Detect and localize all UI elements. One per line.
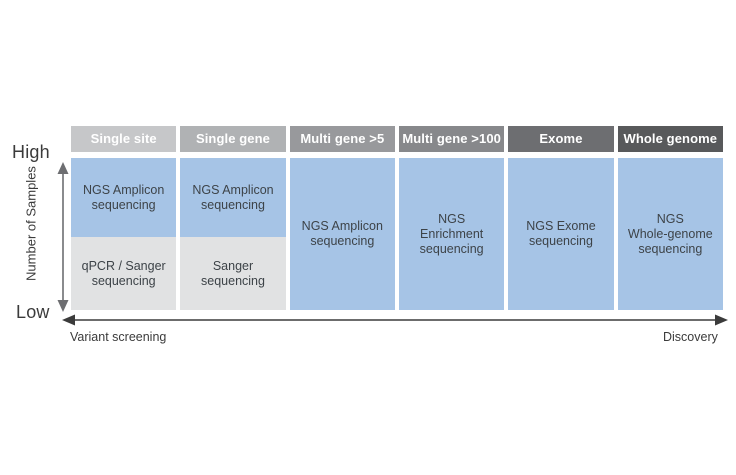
x-axis-right-label: Discovery: [663, 330, 718, 344]
y-axis-double-arrow-icon: [56, 162, 70, 312]
column-body-exome: NGS Exome sequencing: [508, 158, 613, 310]
cell-multi-gene-5: NGS Amplicon sequencing: [290, 158, 395, 310]
y-axis-low-label: Low: [16, 302, 50, 323]
cell-whole-genome: NGS Whole-genome sequencing: [618, 158, 723, 310]
column-body-multi-gene-5: NGS Amplicon sequencing: [290, 158, 395, 310]
column-body-single-site: NGS Amplicon sequencing qPCR / Sanger se…: [71, 158, 176, 310]
column-body-whole-genome: NGS Whole-genome sequencing: [618, 158, 723, 310]
cell-single-site-high: NGS Amplicon sequencing: [71, 158, 176, 237]
column-body-multi-gene-100: NGS Enrichment sequencing: [399, 158, 504, 310]
matrix-columns: Single site NGS Amplicon sequencing qPCR…: [71, 126, 723, 310]
column-header-single-site: Single site: [71, 126, 176, 152]
x-axis-left-label: Variant screening: [70, 330, 166, 344]
cell-multi-gene-100: NGS Enrichment sequencing: [399, 158, 504, 310]
cell-single-gene-high: NGS Amplicon sequencing: [180, 158, 285, 237]
sequencing-matrix-figure: High Low Number of Samples Single site N…: [0, 0, 736, 475]
column-body-single-gene: NGS Amplicon sequencing Sanger sequencin…: [180, 158, 285, 310]
x-axis-double-arrow-icon: [62, 312, 728, 328]
y-axis: High Low Number of Samples: [0, 140, 70, 330]
y-axis-title: Number of Samples: [24, 149, 39, 299]
column-header-multi-gene-100: Multi gene >100: [399, 126, 504, 152]
cell-single-site-low: qPCR / Sanger sequencing: [71, 237, 176, 310]
column-single-site[interactable]: Single site NGS Amplicon sequencing qPCR…: [71, 126, 176, 310]
column-header-single-gene: Single gene: [180, 126, 285, 152]
cell-single-gene-low: Sanger sequencing: [180, 237, 285, 310]
column-whole-genome[interactable]: Whole genome NGS Whole-genome sequencing: [618, 126, 723, 310]
column-header-multi-gene-5: Multi gene >5: [290, 126, 395, 152]
column-multi-gene-5[interactable]: Multi gene >5 NGS Amplicon sequencing: [290, 126, 395, 310]
column-header-whole-genome: Whole genome: [618, 126, 723, 152]
cell-exome: NGS Exome sequencing: [508, 158, 613, 310]
column-single-gene[interactable]: Single gene NGS Amplicon sequencing Sang…: [180, 126, 285, 310]
column-header-exome: Exome: [508, 126, 613, 152]
column-exome[interactable]: Exome NGS Exome sequencing: [508, 126, 613, 310]
column-multi-gene-100[interactable]: Multi gene >100 NGS Enrichment sequencin…: [399, 126, 504, 310]
